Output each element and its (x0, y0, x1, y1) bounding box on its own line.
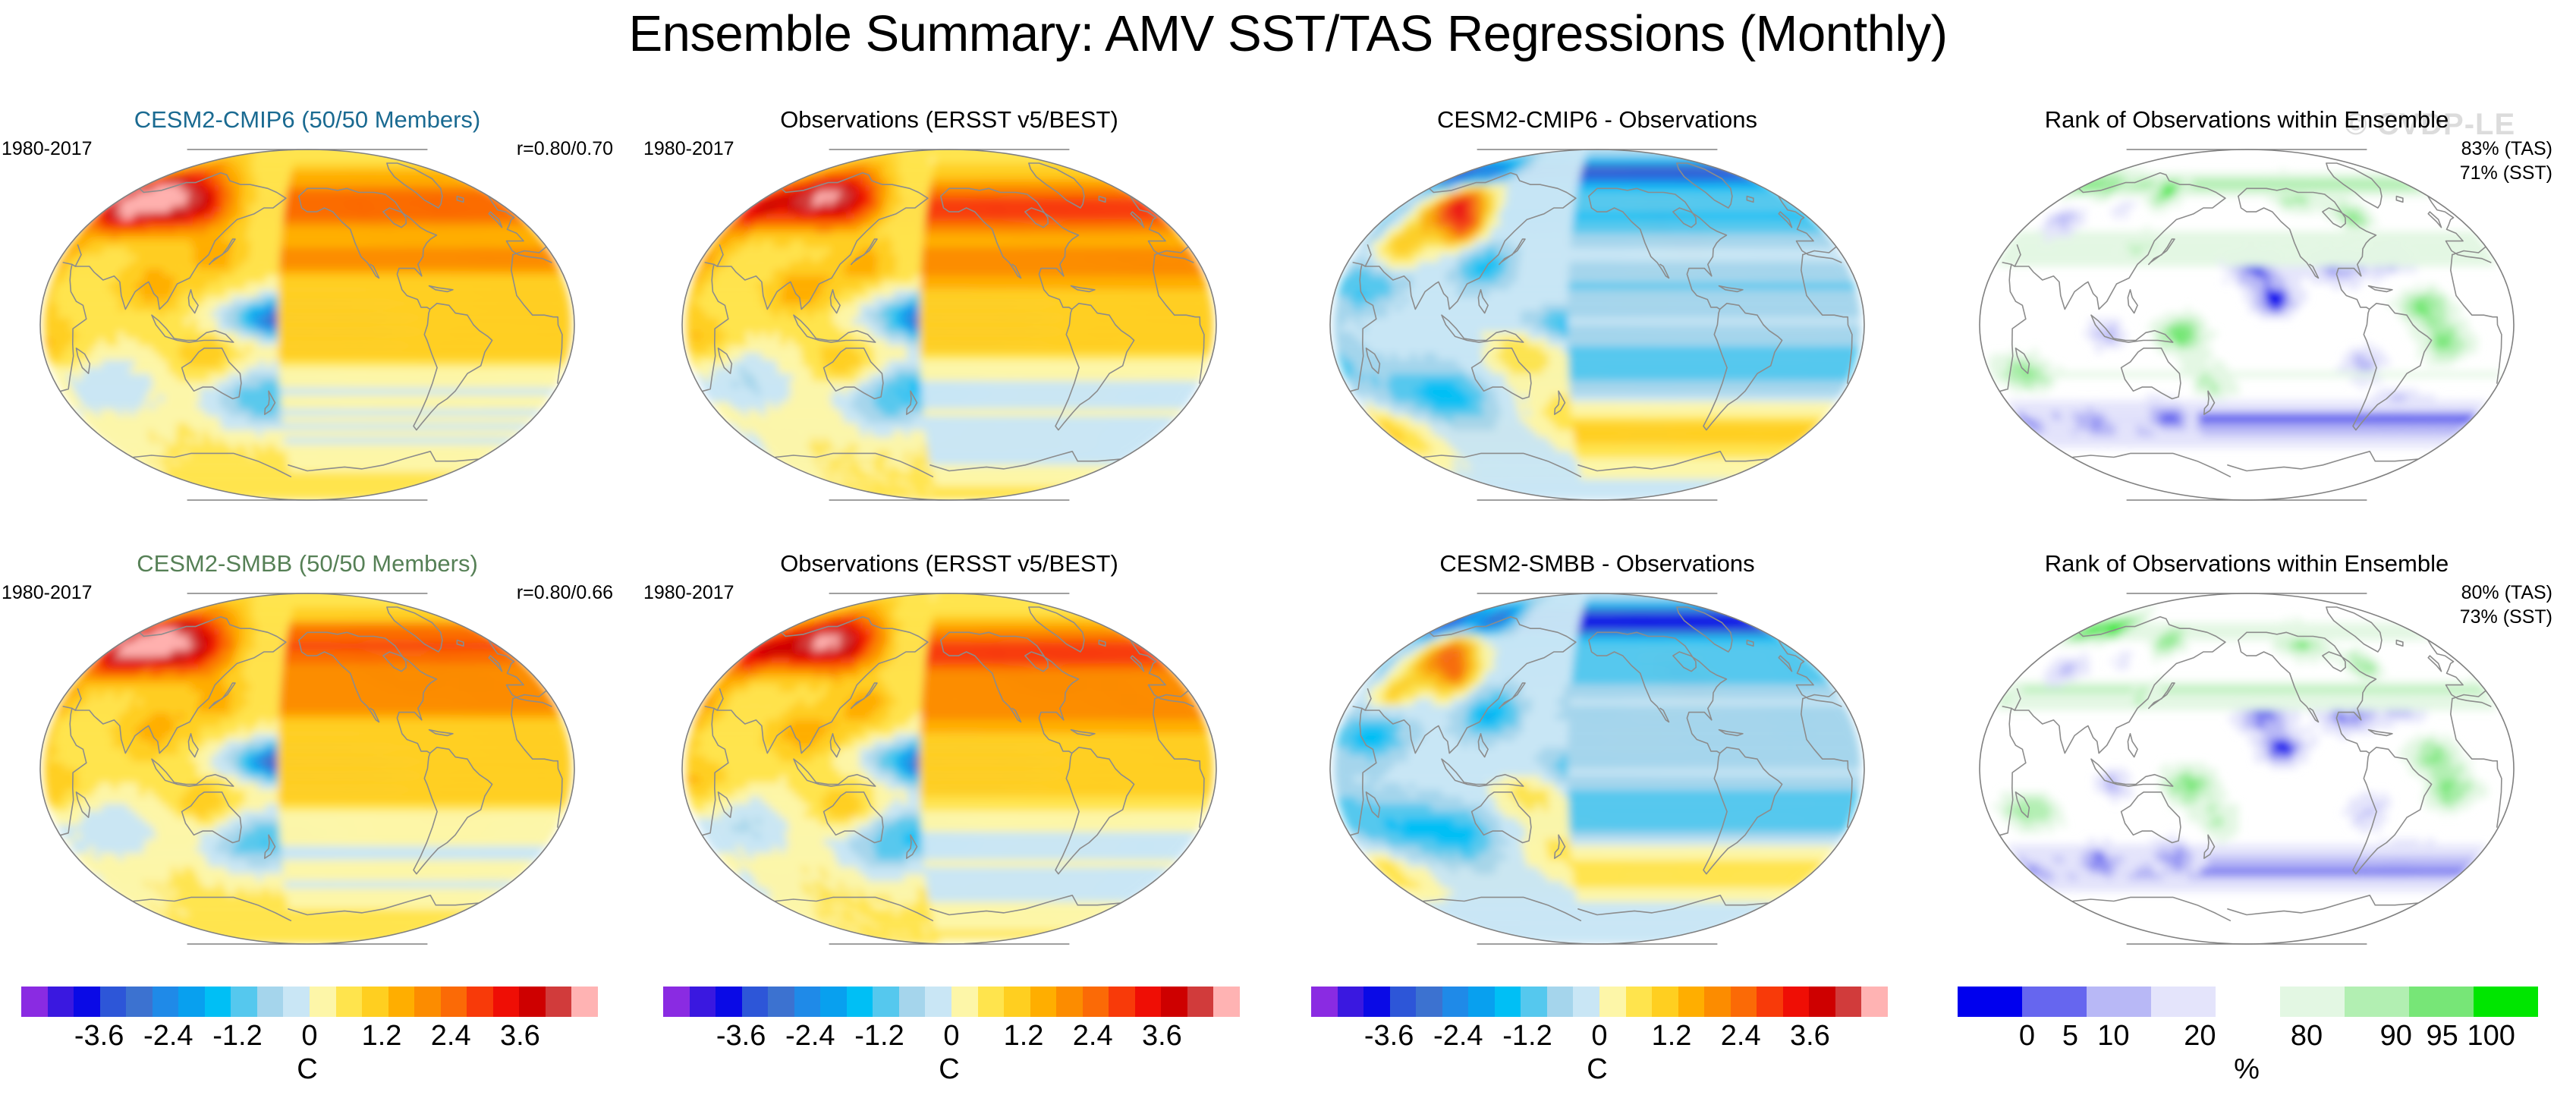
colorbar-swatch (1835, 987, 1862, 1017)
colorbar-swatch (1213, 987, 1240, 1017)
colorbar-swatches (21, 987, 598, 1017)
colorbar-swatch (362, 987, 388, 1017)
colorbar-tick-label: 0 (1591, 1020, 1607, 1053)
map-difference[interactable] (1297, 140, 1897, 504)
panel-title: CESM2-CMIP6 - Observations (1290, 106, 1904, 134)
colorbar-swatch (1731, 987, 1757, 1017)
colorbar-ticks: -3.6-2.4-1.201.22.43.6 (0, 1020, 615, 1053)
colorbar-swatch (1704, 987, 1731, 1017)
colorbar-swatch (951, 987, 978, 1017)
colorbar-ticks: -3.6-2.4-1.201.22.43.6 (642, 1020, 1257, 1053)
colorbar-swatch (1004, 987, 1030, 1017)
colorbar-swatch (1521, 987, 1547, 1017)
colorbar-swatch (663, 987, 690, 1017)
colorbar-swatch (716, 987, 742, 1017)
map-svg (8, 140, 607, 504)
colorbar-tick-label: -3.6 (74, 1020, 124, 1053)
colorbar-swatch (1468, 987, 1495, 1017)
colorbar-swatch (546, 987, 572, 1017)
colorbar-swatch (1135, 987, 1162, 1017)
colorbar-tick-label: -1.2 (212, 1020, 262, 1053)
colorbar-tick-label: 3.6 (1142, 1020, 1182, 1053)
colorbar-tick-label: 1.2 (1652, 1020, 1692, 1053)
colorbar-swatch (899, 987, 926, 1017)
colorbar-swatch (178, 987, 205, 1017)
colorbar-swatch (441, 987, 467, 1017)
map-svg (1947, 140, 2546, 504)
colorbar-swatch (205, 987, 231, 1017)
colorbar-tick-label: 10 (2097, 1020, 2129, 1053)
colorbar-swatch (2022, 987, 2087, 1017)
colorbar-tick-label: 100 (2467, 1020, 2515, 1053)
map-temperature[interactable] (8, 584, 607, 948)
map-svg (650, 584, 1249, 948)
colorbar-swatches (663, 987, 1240, 1017)
colorbar-swatch (1390, 987, 1417, 1017)
colorbar-swatch (2280, 987, 2345, 1017)
colorbar-swatch (1056, 987, 1083, 1017)
colorbar-swatch (336, 987, 363, 1017)
colorbar-tick-label: 90 (2380, 1020, 2412, 1053)
colorbar-tick-label: 0 (301, 1020, 317, 1053)
colorbar-temperature-3[interactable]: -3.6-2.4-1.201.22.43.6 C (1290, 987, 1904, 1100)
colorbar-swatch (1187, 987, 1214, 1017)
colorbar-swatch (1161, 987, 1187, 1017)
colorbar-swatches (1958, 987, 2538, 1017)
colorbar-swatch (283, 987, 310, 1017)
colorbar-tick-label: 1.2 (1004, 1020, 1044, 1053)
colorbar-swatch (690, 987, 716, 1017)
colorbar-swatch (1599, 987, 1626, 1017)
colorbar-tick-label: 95 (2426, 1020, 2458, 1053)
colorbar-tick-label: 80 (2291, 1020, 2323, 1053)
colorbar-swatch (467, 987, 493, 1017)
panel-smbb-ensemble[interactable]: CESM2-SMBB (50/50 Members) 1980-2017 r=0… (0, 550, 615, 960)
map-temperature[interactable] (650, 140, 1249, 504)
panel-title: Observations (ERSST v5/BEST) (642, 106, 1257, 134)
colorbar-swatch (925, 987, 951, 1017)
colorbar-swatch (1626, 987, 1653, 1017)
panel-title: CESM2-SMBB - Observations (1290, 550, 1904, 577)
colorbar-swatch (2216, 987, 2280, 1017)
colorbar-tick-label: -2.4 (1433, 1020, 1483, 1053)
colorbar-swatch (768, 987, 794, 1017)
colorbar-unit: C (1290, 1053, 1904, 1086)
colorbar-swatch (126, 987, 153, 1017)
map-svg (8, 584, 607, 948)
map-temperature[interactable] (8, 140, 607, 504)
colorbar-swatch (1109, 987, 1135, 1017)
colorbar-swatch (820, 987, 847, 1017)
map-temperature[interactable] (650, 584, 1249, 948)
panel-title: CESM2-SMBB (50/50 Members) (0, 550, 615, 577)
colorbar-swatch (519, 987, 546, 1017)
map-svg (1297, 140, 1897, 504)
colorbar-swatch (1573, 987, 1599, 1017)
colorbar-tick-label: 0 (2019, 1020, 2035, 1053)
colorbar-swatch (794, 987, 821, 1017)
figure-canvas: Ensemble Summary: AMV SST/TAS Regression… (0, 0, 2576, 1114)
colorbar-temperature-1[interactable]: -3.6-2.4-1.201.22.43.6 C (0, 987, 615, 1100)
colorbar-swatch (310, 987, 336, 1017)
colorbar-tick-label: -2.4 (143, 1020, 193, 1053)
colorbar-swatches (1311, 987, 1888, 1017)
colorbar-rank[interactable]: 051020809095100 % (1939, 987, 2554, 1100)
colorbar-swatch (978, 987, 1005, 1017)
colorbar-temperature-2[interactable]: -3.6-2.4-1.201.22.43.6 C (642, 987, 1257, 1100)
colorbar-tick-label: 0 (943, 1020, 959, 1053)
colorbar-tick-label: 2.4 (431, 1020, 471, 1053)
colorbar-swatch (1783, 987, 1810, 1017)
colorbar-swatch (1311, 987, 1338, 1017)
colorbar-swatch (2474, 987, 2538, 1017)
panel-observations-row2[interactable]: Observations (ERSST v5/BEST) 1980-2017 (642, 550, 1257, 960)
colorbar-ticks: 051020809095100 (1939, 1020, 2554, 1053)
panel-rank-row1[interactable]: Rank of Observations within Ensemble 83%… (1939, 106, 2554, 516)
colorbar-swatch (153, 987, 179, 1017)
panel-title: CESM2-CMIP6 (50/50 Members) (0, 106, 615, 134)
colorbar-swatch (74, 987, 100, 1017)
colorbar-tick-label: 2.4 (1721, 1020, 1761, 1053)
colorbar-swatch (1547, 987, 1574, 1017)
colorbar-tick-label: 2.4 (1073, 1020, 1113, 1053)
colorbar-swatch (21, 987, 48, 1017)
map-rank[interactable] (1947, 140, 2546, 504)
colorbar-tick-label: -3.6 (716, 1020, 766, 1053)
panel-smbb-minus-obs[interactable]: CESM2-SMBB - Observations (1290, 550, 1904, 960)
panel-title: Observations (ERSST v5/BEST) (642, 550, 1257, 577)
colorbar-swatch (1861, 987, 1888, 1017)
colorbar-swatch (414, 987, 441, 1017)
colorbar-swatch (1809, 987, 1835, 1017)
colorbar-swatch (1030, 987, 1057, 1017)
colorbar-swatch (1338, 987, 1364, 1017)
colorbar-swatch (2409, 987, 2474, 1017)
colorbar-swatch (48, 987, 74, 1017)
colorbar-swatch (257, 987, 284, 1017)
colorbar-swatch (1442, 987, 1469, 1017)
colorbar-unit: C (0, 1053, 615, 1086)
colorbar-tick-label: -2.4 (785, 1020, 835, 1053)
map-rank[interactable] (1947, 584, 2546, 948)
panel-cmip6-ensemble[interactable]: CESM2-CMIP6 (50/50 Members) 1980-2017 r=… (0, 106, 615, 516)
colorbar-swatch (231, 987, 257, 1017)
panel-title: Rank of Observations within Ensemble (1939, 550, 2554, 577)
colorbar-tick-label: -1.2 (854, 1020, 904, 1053)
colorbar-swatch (1678, 987, 1705, 1017)
colorbar-tick-label: 3.6 (1790, 1020, 1830, 1053)
colorbar-swatch (1083, 987, 1109, 1017)
colorbar-swatch (100, 987, 127, 1017)
colorbar-unit: % (1939, 1053, 2554, 1086)
colorbar-swatch (1958, 987, 2022, 1017)
colorbar-tick-label: 5 (2062, 1020, 2078, 1053)
panel-observations-row1[interactable]: Observations (ERSST v5/BEST) 1980-2017 (642, 106, 1257, 516)
colorbar-swatch (388, 987, 415, 1017)
map-svg (1947, 584, 2546, 948)
colorbar-swatch (1363, 987, 1390, 1017)
colorbar-swatch (873, 987, 899, 1017)
colorbar-swatch (1757, 987, 1783, 1017)
colorbar-swatch (571, 987, 598, 1017)
colorbar-swatch (2151, 987, 2216, 1017)
colorbar-swatch (2087, 987, 2151, 1017)
colorbar-swatch (1652, 987, 1678, 1017)
colorbar-swatch (1416, 987, 1442, 1017)
colorbar-swatch (1495, 987, 1521, 1017)
colorbar-swatch (493, 987, 520, 1017)
panel-cmip6-minus-obs[interactable]: CESM2-CMIP6 - Observations (1290, 106, 1904, 516)
map-svg (650, 140, 1249, 504)
colorbar-tick-label: 1.2 (362, 1020, 402, 1053)
page-title: Ensemble Summary: AMV SST/TAS Regression… (0, 5, 2576, 63)
colorbar-unit: C (642, 1053, 1257, 1086)
colorbar-tick-label: -3.6 (1364, 1020, 1414, 1053)
map-svg (1297, 584, 1897, 948)
map-difference[interactable] (1297, 584, 1897, 948)
colorbar-swatch (847, 987, 873, 1017)
panel-title: Rank of Observations within Ensemble (1939, 106, 2554, 134)
colorbar-swatch (2345, 987, 2409, 1017)
colorbar-ticks: -3.6-2.4-1.201.22.43.6 (1290, 1020, 1904, 1053)
colorbar-tick-label: -1.2 (1502, 1020, 1552, 1053)
panel-rank-row2[interactable]: Rank of Observations within Ensemble 80%… (1939, 550, 2554, 960)
colorbar-tick-label: 3.6 (500, 1020, 540, 1053)
colorbar-tick-label: 20 (2184, 1020, 2216, 1053)
colorbar-swatch (742, 987, 769, 1017)
